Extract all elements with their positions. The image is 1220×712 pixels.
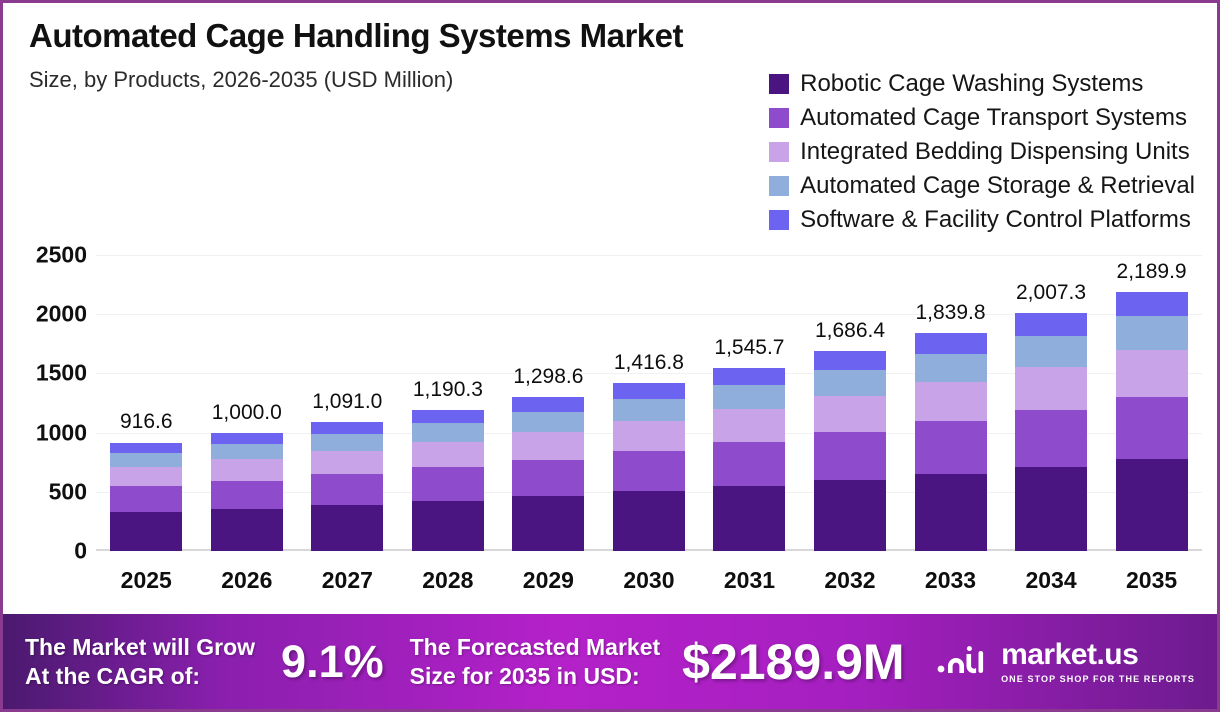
- bar-segment[interactable]: [613, 383, 685, 399]
- bar-segment[interactable]: [412, 501, 484, 551]
- legend-swatch-icon: [769, 210, 789, 230]
- bar-segment[interactable]: [412, 410, 484, 423]
- bar-total-label: 1,190.3: [413, 378, 483, 402]
- legend-item-label: Automated Cage Transport Systems: [800, 104, 1187, 132]
- bar-segment[interactable]: [1116, 316, 1188, 350]
- bar-segment[interactable]: [512, 496, 584, 551]
- bar-segment[interactable]: [412, 467, 484, 501]
- bar-total-label: 2,007.3: [1016, 281, 1086, 305]
- bar-segment[interactable]: [613, 421, 685, 451]
- legend-item-2[interactable]: Integrated Bedding Dispensing Units: [769, 135, 1190, 169]
- cagr-value: 9.1%: [281, 639, 384, 684]
- bar-segment[interactable]: [613, 399, 685, 421]
- forecast-value: $2189.9M: [682, 637, 904, 687]
- x-axis: 2025202620272028202920302031203220332034…: [96, 563, 1202, 597]
- bar-segment[interactable]: [1116, 397, 1188, 459]
- bar-segment[interactable]: [814, 432, 886, 480]
- bar-segment[interactable]: [110, 443, 182, 453]
- legend-swatch-icon: [769, 74, 789, 94]
- x-axis-tick-2028: 2028: [398, 567, 499, 594]
- bar-segment[interactable]: [211, 481, 283, 509]
- bar-segment[interactable]: [713, 409, 785, 442]
- bar-segment[interactable]: [110, 486, 182, 512]
- bar-segment[interactable]: [814, 351, 886, 370]
- brand-text: market.us ONE STOP SHOP FOR THE REPORTS: [1001, 640, 1195, 684]
- bar-column-2033[interactable]: 1,839.8: [900, 255, 1001, 551]
- chart-header: Automated Cage Handling Systems Market S…: [29, 17, 683, 93]
- bar-segment[interactable]: [412, 442, 484, 467]
- legend-item-label: Automated Cage Storage & Retrieval: [800, 172, 1195, 200]
- cagr-caption-line1: The Market will Grow: [25, 634, 255, 660]
- bar-segment[interactable]: [110, 512, 182, 551]
- brand-tagline: ONE STOP SHOP FOR THE REPORTS: [1001, 674, 1195, 684]
- bar-segment[interactable]: [311, 451, 383, 474]
- bar-segment[interactable]: [110, 453, 182, 467]
- market-us-logo-icon: [935, 642, 989, 681]
- x-axis-tick-2030: 2030: [599, 567, 700, 594]
- legend-item-0[interactable]: Robotic Cage Washing Systems: [769, 67, 1143, 101]
- bar-total-label: 916.6: [120, 410, 173, 434]
- bar-segment[interactable]: [211, 459, 283, 480]
- bar-column-2026[interactable]: 1,000.0: [197, 255, 298, 551]
- bar-segment[interactable]: [1015, 336, 1087, 367]
- bar-segment[interactable]: [211, 433, 283, 444]
- bar-stack[interactable]: [915, 333, 987, 551]
- bar-stack[interactable]: [311, 422, 383, 551]
- legend-swatch-icon: [769, 108, 789, 128]
- bar-segment[interactable]: [512, 432, 584, 460]
- page-title: Automated Cage Handling Systems Market: [29, 17, 683, 55]
- bar-total-label: 1,839.8: [915, 301, 985, 325]
- cagr-caption: The Market will Grow At the CAGR of:: [25, 633, 255, 689]
- bar-column-2030[interactable]: 1,416.8: [599, 255, 700, 551]
- bar-segment[interactable]: [1116, 459, 1188, 551]
- bar-segment[interactable]: [512, 397, 584, 412]
- chart-legend: Robotic Cage Washing SystemsAutomated Ca…: [769, 67, 1195, 237]
- chart-card: Automated Cage Handling Systems Market S…: [0, 0, 1220, 712]
- bar-column-2029[interactable]: 1,298.6: [498, 255, 599, 551]
- bar-segment[interactable]: [311, 434, 383, 451]
- bar-stack[interactable]: [713, 368, 785, 551]
- bar-segment[interactable]: [1015, 467, 1087, 551]
- x-axis-tick-2032: 2032: [800, 567, 901, 594]
- y-axis-tick-label: 500: [49, 478, 87, 505]
- bar-column-2025[interactable]: 916.6: [96, 255, 197, 551]
- bar-column-2035[interactable]: 2,189.9: [1101, 255, 1202, 551]
- cagr-caption-line2: At the CAGR of:: [25, 663, 200, 689]
- bar-segment[interactable]: [1015, 410, 1087, 467]
- bar-segment[interactable]: [1116, 292, 1188, 317]
- bar-total-label: 1,686.4: [815, 319, 885, 343]
- legend-item-label: Integrated Bedding Dispensing Units: [800, 138, 1190, 166]
- bar-segment[interactable]: [1015, 367, 1087, 410]
- x-axis-tick-2034: 2034: [1001, 567, 1102, 594]
- legend-item-4[interactable]: Software & Facility Control Platforms: [769, 203, 1191, 237]
- bar-total-label: 2,189.9: [1117, 260, 1187, 284]
- y-axis-tick-label: 2500: [36, 242, 87, 269]
- bar-group: 916.61,000.01,091.01,190.31,298.61,416.8…: [96, 255, 1202, 551]
- y-axis: 05001000150020002500: [3, 255, 87, 551]
- x-axis-tick-2027: 2027: [297, 567, 398, 594]
- bar-total-label: 1,416.8: [614, 351, 684, 375]
- bar-segment[interactable]: [713, 368, 785, 385]
- bar-segment[interactable]: [915, 382, 987, 421]
- legend-swatch-icon: [769, 176, 789, 196]
- brand-name: market.us: [1001, 640, 1195, 670]
- bar-segment[interactable]: [110, 467, 182, 487]
- y-axis-tick-label: 1000: [36, 419, 87, 446]
- x-axis-tick-2029: 2029: [498, 567, 599, 594]
- x-axis-tick-2033: 2033: [900, 567, 1001, 594]
- forecast-caption: The Forecasted Market Size for 2035 in U…: [410, 633, 661, 689]
- bar-stack[interactable]: [512, 397, 584, 551]
- bar-column-2032[interactable]: 1,686.4: [800, 255, 901, 551]
- legend-item-label: Robotic Cage Washing Systems: [800, 70, 1143, 98]
- bar-segment[interactable]: [915, 421, 987, 473]
- bar-segment[interactable]: [613, 451, 685, 491]
- bar-segment[interactable]: [613, 491, 685, 551]
- x-axis-tick-2025: 2025: [96, 567, 197, 594]
- forecast-caption-line1: The Forecasted Market: [410, 634, 661, 660]
- bar-stack[interactable]: [814, 351, 886, 551]
- bar-segment[interactable]: [713, 486, 785, 551]
- bar-stack[interactable]: [1116, 292, 1188, 551]
- bar-segment[interactable]: [311, 422, 383, 434]
- bar-segment[interactable]: [1015, 313, 1087, 336]
- bar-stack[interactable]: [1015, 313, 1087, 551]
- bar-segment[interactable]: [814, 396, 886, 432]
- bar-total-label: 1,000.0: [212, 401, 282, 425]
- bar-total-label: 1,091.0: [312, 390, 382, 414]
- x-axis-tick-2026: 2026: [197, 567, 298, 594]
- bar-segment[interactable]: [512, 460, 584, 497]
- bar-stack[interactable]: [211, 433, 283, 551]
- bar-column-2031[interactable]: 1,545.7: [699, 255, 800, 551]
- footer-banner: The Market will Grow At the CAGR of: 9.1…: [3, 614, 1217, 709]
- bar-segment[interactable]: [211, 509, 283, 551]
- bar-segment[interactable]: [814, 370, 886, 396]
- legend-swatch-icon: [769, 142, 789, 162]
- y-axis-tick-label: 2000: [36, 301, 87, 328]
- x-axis-tick-2035: 2035: [1101, 567, 1202, 594]
- bar-segment[interactable]: [713, 442, 785, 486]
- bar-segment[interactable]: [915, 354, 987, 382]
- bar-column-2027[interactable]: 1,091.0: [297, 255, 398, 551]
- forecast-caption-line2: Size for 2035 in USD:: [410, 663, 640, 689]
- bar-segment[interactable]: [211, 444, 283, 459]
- bar-segment[interactable]: [311, 505, 383, 551]
- bar-segment[interactable]: [814, 480, 886, 551]
- bar-stack[interactable]: [613, 383, 685, 551]
- chart-subtitle: Size, by Products, 2026-2035 (USD Millio…: [29, 67, 683, 93]
- bar-segment[interactable]: [713, 385, 785, 409]
- bar-column-2034[interactable]: 2,007.3: [1001, 255, 1102, 551]
- bar-segment[interactable]: [915, 474, 987, 551]
- legend-item-1[interactable]: Automated Cage Transport Systems: [769, 101, 1187, 135]
- bar-stack[interactable]: [412, 410, 484, 551]
- bar-total-label: 1,298.6: [513, 365, 583, 389]
- brand-logo: market.us ONE STOP SHOP FOR THE REPORTS: [935, 640, 1195, 684]
- legend-item-label: Software & Facility Control Platforms: [800, 206, 1191, 234]
- bar-segment[interactable]: [1116, 350, 1188, 397]
- legend-item-3[interactable]: Automated Cage Storage & Retrieval: [769, 169, 1195, 203]
- x-axis-tick-2031: 2031: [699, 567, 800, 594]
- bar-segment[interactable]: [915, 333, 987, 354]
- bar-segment[interactable]: [311, 474, 383, 505]
- bar-total-label: 1,545.7: [714, 336, 784, 360]
- y-axis-tick-label: 1500: [36, 360, 87, 387]
- bar-segment[interactable]: [412, 423, 484, 441]
- bar-segment[interactable]: [512, 412, 584, 432]
- bar-stack[interactable]: [110, 443, 182, 552]
- plot-area: 916.61,000.01,091.01,190.31,298.61,416.8…: [96, 255, 1202, 551]
- y-axis-tick-label: 0: [74, 538, 87, 565]
- bar-column-2028[interactable]: 1,190.3: [398, 255, 499, 551]
